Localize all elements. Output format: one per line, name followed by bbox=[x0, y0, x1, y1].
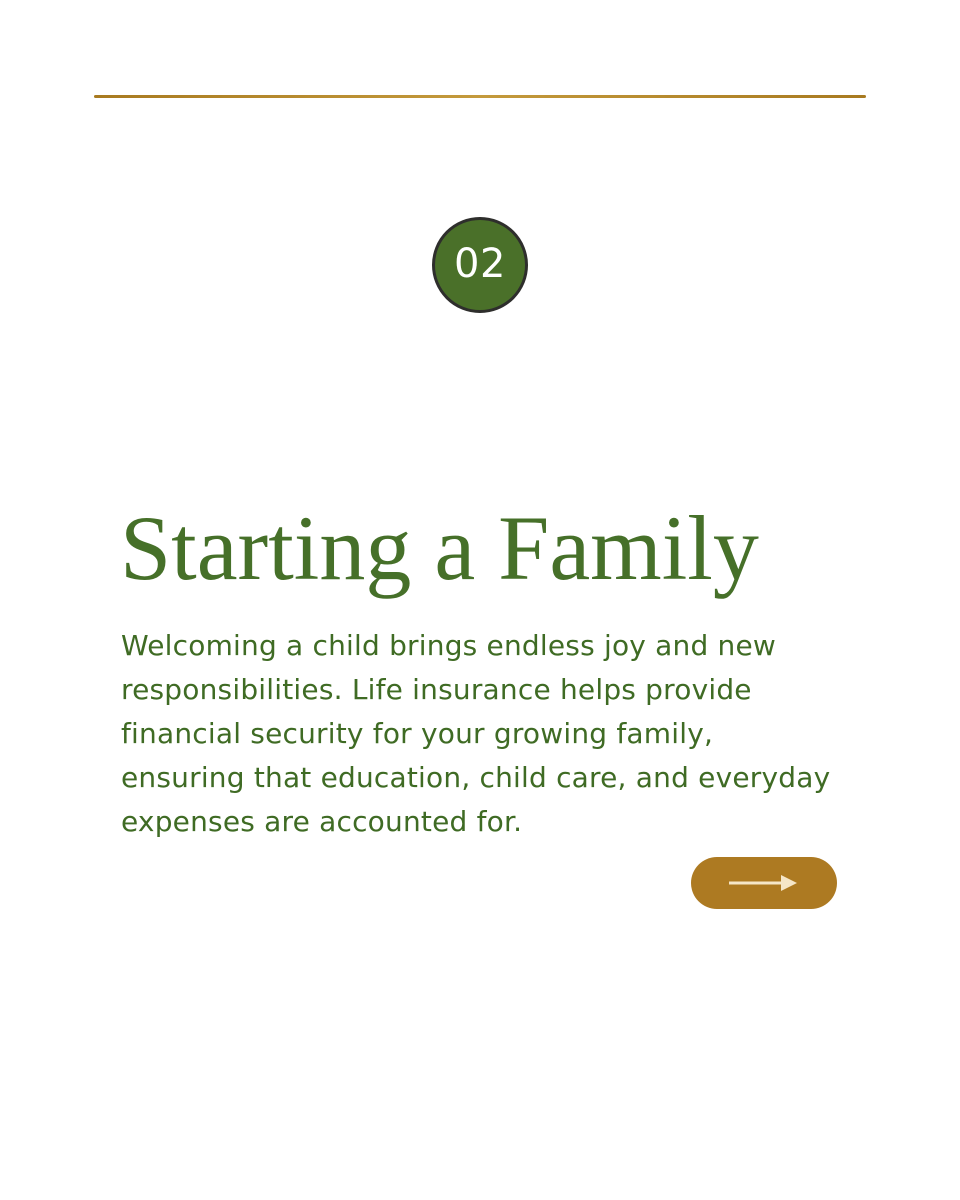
step-number-label: 02 bbox=[454, 244, 506, 286]
top-divider-rule bbox=[94, 95, 866, 98]
arrow-right-icon bbox=[729, 872, 799, 894]
page-title: Starting a Family bbox=[120, 502, 880, 594]
slide-canvas: 02 Starting a Family Welcoming a child b… bbox=[0, 0, 960, 1200]
body-paragraph: Welcoming a child brings endless joy and… bbox=[121, 624, 831, 844]
next-button[interactable]: Next bbox=[691, 857, 837, 909]
step-number-badge: 02 bbox=[432, 217, 528, 313]
